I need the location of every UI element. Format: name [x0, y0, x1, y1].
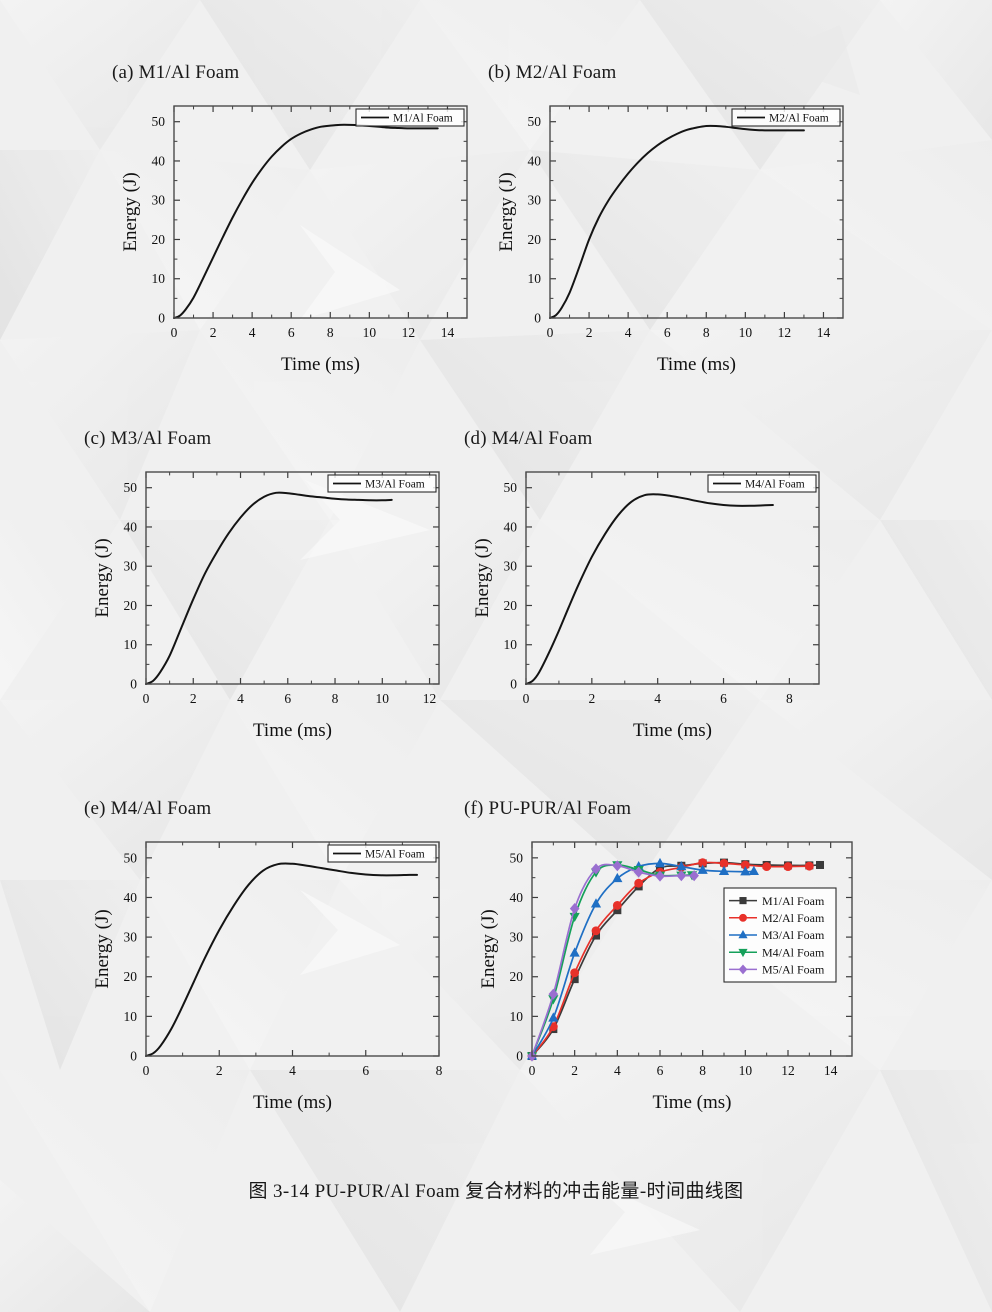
- x-tick-label: 14: [824, 1063, 838, 1078]
- x-tick-label: 2: [586, 325, 593, 340]
- y-axis-title: Energy (J): [120, 172, 141, 251]
- panel-d: (d) M4/Al Foam: [464, 428, 592, 450]
- legend-label: M5/Al Foam: [762, 963, 825, 977]
- x-tick-label: 2: [571, 1063, 578, 1078]
- plot-area: [146, 472, 439, 684]
- x-tick-label: 10: [376, 691, 390, 706]
- x-tick-label: 0: [171, 325, 178, 340]
- plot-area: [174, 106, 467, 318]
- y-tick-label: 0: [158, 311, 165, 326]
- panel-a-name: M1/Al Foam: [139, 62, 240, 83]
- panel-b-plot: 0246810121401020304050Time (ms)Energy (J…: [488, 96, 853, 396]
- y-tick-label: 20: [124, 969, 138, 984]
- legend: M1/Al FoamM2/Al FoamM3/Al FoamM4/Al Foam…: [724, 888, 836, 982]
- x-tick-label: 6: [657, 1063, 664, 1078]
- panel-b-title: (b) M2/Al Foam: [488, 62, 616, 84]
- panel-f-label: (f): [464, 798, 484, 819]
- x-tick-label: 12: [778, 325, 792, 340]
- y-tick-label: 10: [510, 1009, 524, 1024]
- y-axis-title: Energy (J): [472, 538, 493, 617]
- panel-e-title: (e) M4/Al Foam: [84, 798, 211, 820]
- legend-label: M1/Al Foam: [393, 113, 453, 125]
- x-axis-title: Time (ms): [657, 354, 736, 375]
- y-tick-label: 50: [510, 850, 524, 865]
- x-tick-label: 8: [703, 325, 710, 340]
- x-tick-label: 0: [143, 691, 150, 706]
- x-tick-label: 14: [817, 325, 831, 340]
- y-tick-label: 30: [124, 930, 138, 945]
- x-tick-label: 12: [402, 325, 416, 340]
- y-tick-label: 40: [124, 519, 138, 534]
- x-tick-label: 8: [327, 325, 334, 340]
- legend-label: M3/Al Foam: [762, 928, 825, 942]
- panel-a-title: (a) M1/Al Foam: [112, 62, 239, 84]
- panel-c-label: (c): [84, 428, 106, 449]
- y-tick-label: 40: [504, 519, 518, 534]
- x-tick-label: 0: [547, 325, 554, 340]
- x-tick-label: 0: [143, 1063, 150, 1078]
- y-tick-label: 50: [124, 850, 138, 865]
- data-point-marker: [805, 862, 813, 870]
- y-tick-label: 0: [510, 677, 517, 692]
- x-tick-label: 4: [625, 325, 632, 340]
- y-tick-label: 20: [510, 969, 524, 984]
- y-tick-label: 40: [124, 890, 138, 905]
- x-tick-label: 6: [664, 325, 671, 340]
- y-tick-label: 20: [152, 232, 166, 247]
- legend-label: M4/Al Foam: [745, 479, 805, 491]
- y-tick-label: 40: [528, 153, 542, 168]
- data-point-marker: [816, 861, 823, 868]
- panel-c-title: (c) M3/Al Foam: [84, 428, 211, 450]
- panel-a: (a) M1/Al Foam: [112, 62, 239, 84]
- legend-label: M1/Al Foam: [762, 894, 825, 908]
- x-tick-label: 12: [781, 1063, 795, 1078]
- x-tick-label: 4: [249, 325, 256, 340]
- y-axis-title: Energy (J): [92, 909, 113, 988]
- legend-label: M2/Al Foam: [769, 113, 829, 125]
- panel-c: (c) M3/Al Foam: [84, 428, 211, 450]
- data-point-marker: [571, 969, 579, 977]
- legend: M2/Al Foam: [732, 109, 840, 126]
- panel-b-label: (b): [488, 62, 511, 83]
- x-axis-title: Time (ms): [281, 354, 360, 375]
- x-tick-label: 4: [654, 691, 661, 706]
- legend: M1/Al Foam: [356, 109, 464, 126]
- legend-label: M4/Al Foam: [762, 945, 825, 959]
- data-point-marker: [740, 897, 746, 903]
- x-tick-label: 8: [699, 1063, 706, 1078]
- panel-e-label: (e): [84, 798, 106, 819]
- x-tick-label: 2: [210, 325, 217, 340]
- plot-area: [146, 842, 439, 1056]
- legend-label: M5/Al Foam: [365, 849, 425, 861]
- y-tick-label: 50: [152, 114, 166, 129]
- panel-f-name: PU-PUR/Al Foam: [489, 798, 632, 819]
- panel-d-name: M4/Al Foam: [492, 428, 593, 449]
- panel-e: (e) M4/Al Foam: [84, 798, 211, 820]
- y-tick-label: 0: [516, 1049, 523, 1064]
- x-tick-label: 6: [720, 691, 727, 706]
- panel-f-title: (f) PU-PUR/Al Foam: [464, 798, 631, 820]
- x-tick-label: 6: [362, 1063, 369, 1078]
- y-tick-label: 10: [124, 1009, 138, 1024]
- x-tick-label: 4: [614, 1063, 621, 1078]
- panel-a-label: (a): [112, 62, 134, 83]
- y-tick-label: 20: [528, 232, 542, 247]
- y-axis-title: Energy (J): [496, 172, 517, 251]
- panel-b: (b) M2/Al Foam: [488, 62, 616, 84]
- data-point-marker: [613, 901, 621, 909]
- x-tick-label: 2: [190, 691, 197, 706]
- legend-label: M2/Al Foam: [762, 911, 825, 925]
- x-axis-title: Time (ms): [253, 1092, 332, 1113]
- figure-caption: 图 3-14 PU-PUR/Al Foam 复合材料的冲击能量-时间曲线图: [0, 1176, 992, 1203]
- y-axis-title: Energy (J): [478, 909, 499, 988]
- y-tick-label: 0: [534, 311, 541, 326]
- plot-area: [550, 106, 843, 318]
- y-tick-label: 30: [124, 559, 138, 574]
- y-tick-label: 30: [528, 193, 542, 208]
- x-tick-label: 8: [786, 691, 793, 706]
- y-tick-label: 20: [504, 598, 518, 613]
- panel-b-name: M2/Al Foam: [516, 62, 617, 83]
- x-tick-label: 14: [441, 325, 455, 340]
- legend-label: M3/Al Foam: [365, 479, 425, 491]
- data-point-marker: [784, 863, 792, 871]
- x-tick-label: 6: [288, 325, 295, 340]
- x-tick-label: 2: [588, 691, 595, 706]
- data-point-marker: [592, 927, 600, 935]
- x-tick-label: 0: [529, 1063, 536, 1078]
- data-point-marker: [635, 879, 643, 887]
- x-tick-label: 10: [739, 1063, 753, 1078]
- y-tick-label: 10: [528, 271, 542, 286]
- figure-sheet: (a) M1/Al Foam 0246810121401020304050Tim…: [0, 0, 992, 1312]
- y-tick-label: 30: [504, 559, 518, 574]
- panel-f-plot: 0246810121401020304050Time (ms)Energy (J…: [464, 832, 864, 1134]
- y-tick-label: 50: [528, 114, 542, 129]
- y-tick-label: 10: [504, 637, 518, 652]
- y-tick-label: 30: [152, 193, 166, 208]
- y-tick-label: 10: [124, 637, 138, 652]
- y-tick-label: 0: [130, 1049, 137, 1064]
- legend: M5/Al Foam: [328, 845, 436, 862]
- plot-area: [526, 472, 819, 684]
- panel-d-plot: 0246801020304050Time (ms)Energy (J)M4/Al…: [464, 462, 829, 762]
- y-tick-label: 30: [510, 930, 524, 945]
- y-tick-label: 40: [152, 153, 166, 168]
- legend: M3/Al Foam: [328, 475, 436, 492]
- y-tick-label: 10: [152, 271, 166, 286]
- panel-c-name: M3/Al Foam: [111, 428, 212, 449]
- panel-e-plot: 0246801020304050Time (ms)Energy (J)M5/Al…: [84, 832, 449, 1134]
- x-axis-title: Time (ms): [633, 720, 712, 741]
- legend: M4/Al Foam: [708, 475, 816, 492]
- x-tick-label: 10: [739, 325, 753, 340]
- x-tick-label: 4: [237, 691, 244, 706]
- x-tick-label: 0: [523, 691, 530, 706]
- panel-d-label: (d): [464, 428, 487, 449]
- y-tick-label: 50: [504, 480, 518, 495]
- x-axis-title: Time (ms): [652, 1092, 731, 1113]
- y-tick-label: 50: [124, 480, 138, 495]
- x-tick-label: 8: [332, 691, 339, 706]
- x-tick-label: 6: [284, 691, 291, 706]
- y-axis-title: Energy (J): [92, 538, 113, 617]
- x-tick-label: 2: [216, 1063, 223, 1078]
- y-tick-label: 20: [124, 598, 138, 613]
- panel-f: (f) PU-PUR/Al Foam: [464, 798, 631, 820]
- data-point-marker: [763, 863, 771, 871]
- x-tick-label: 10: [363, 325, 377, 340]
- x-tick-label: 4: [289, 1063, 296, 1078]
- panel-e-name: M4/Al Foam: [111, 798, 212, 819]
- y-tick-label: 0: [130, 677, 137, 692]
- panel-c-plot: 02468101201020304050Time (ms)Energy (J)M…: [84, 462, 449, 762]
- x-tick-label: 8: [436, 1063, 443, 1078]
- x-tick-label: 12: [423, 691, 437, 706]
- x-axis-title: Time (ms): [253, 720, 332, 741]
- panel-d-title: (d) M4/Al Foam: [464, 428, 592, 450]
- data-point-marker: [739, 914, 746, 921]
- y-tick-label: 40: [510, 890, 524, 905]
- panel-a-plot: 0246810121401020304050Time (ms)Energy (J…: [112, 96, 477, 396]
